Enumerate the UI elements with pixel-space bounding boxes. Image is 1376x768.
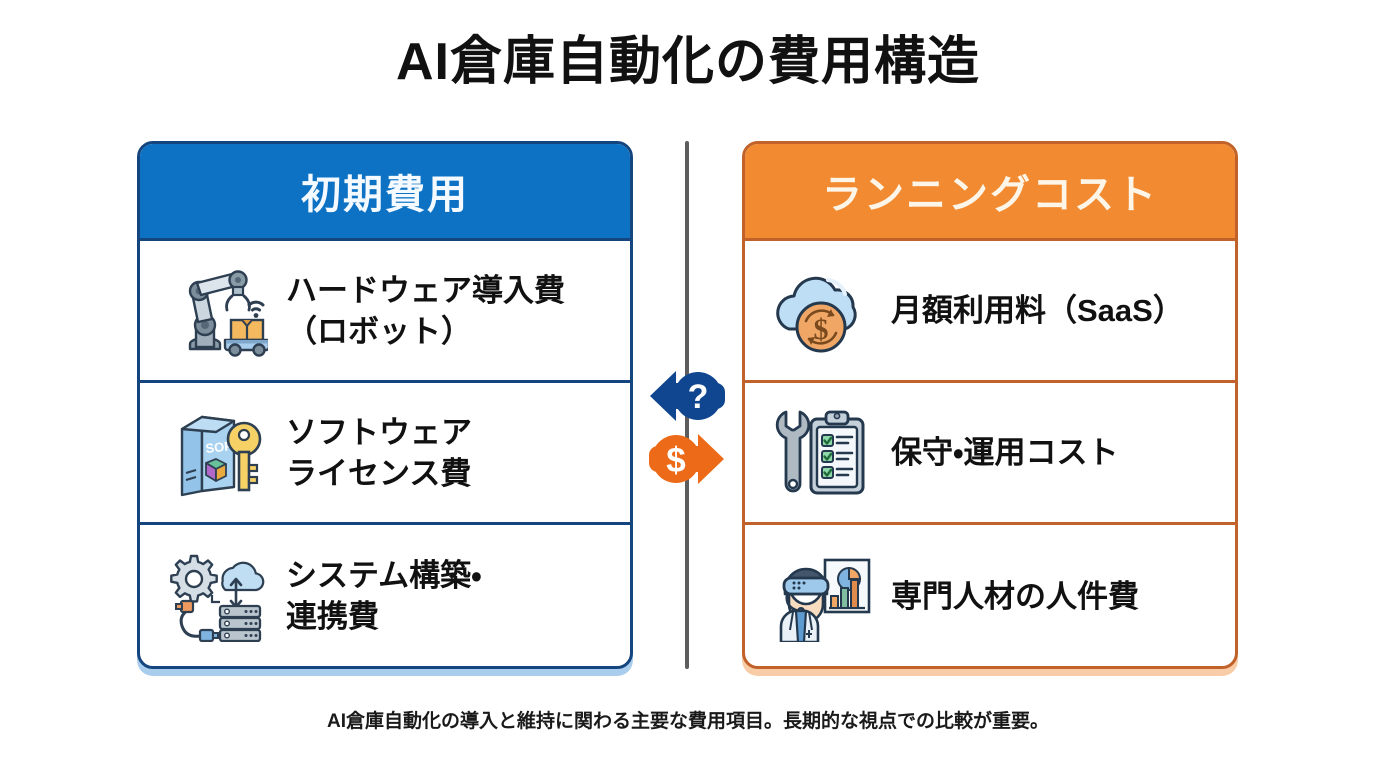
list-item[interactable]: 保守・運用コスト — [745, 383, 1235, 525]
cloud-recurring-coin-icon: $ — [769, 261, 877, 361]
question-arrow-symbol: ? — [688, 378, 709, 416]
wrench-checklist-icon — [769, 403, 877, 503]
dollar-arrow-badge: $ — [648, 428, 726, 490]
expert-analyst-icon — [769, 546, 877, 646]
running-cost-rows: $ 月額利用料（SaaS） — [745, 241, 1235, 667]
list-item[interactable]: ハードウェア導入費 （ロボット） — [140, 241, 630, 383]
initial-cost-header: 初期費用 — [140, 144, 630, 241]
initial-cost-rows: ハードウェア導入費 （ロボット） SOFT — [140, 241, 630, 667]
robot-arm-agv-icon — [164, 261, 272, 361]
footer-caption: AI倉庫自動化の導入と維持に関わる主要な費用項目。長期的な視点での比較が重要。 — [0, 706, 1376, 733]
dollar-arrow-symbol: $ — [666, 441, 685, 480]
list-item-label: システム構築・ 連携費 — [286, 555, 482, 637]
list-item-label: ソフトウェア ライセンス費 — [286, 412, 472, 494]
svg-text:$: $ — [814, 313, 829, 346]
list-item-label: ハードウェア導入費 （ロボット） — [286, 270, 565, 352]
question-arrow-badge: ? — [648, 365, 726, 427]
list-item[interactable]: システム構築・ 連携費 — [140, 525, 630, 667]
list-item[interactable]: SOFT — [140, 383, 630, 525]
list-item-label: 保守・運用コスト — [891, 432, 1119, 473]
running-cost-header: ランニングコスト — [745, 144, 1235, 241]
infographic-page: AI倉庫自動化の費用構造 初期費用 — [0, 0, 1376, 768]
gear-cloud-server-icon — [164, 546, 272, 646]
initial-cost-header-label: 初期費用 — [301, 162, 469, 220]
list-item[interactable]: $ 月額利用料（SaaS） — [745, 241, 1235, 383]
running-cost-header-label: ランニングコスト — [822, 162, 1158, 220]
running-cost-panel: ランニングコスト $ 月額 — [742, 141, 1238, 669]
software-box-key-icon: SOFT — [164, 403, 272, 503]
list-item-label: 月額利用料（SaaS） — [891, 290, 1184, 331]
list-item[interactable]: 専門人材の人件費 — [745, 525, 1235, 667]
list-item-label: 専門人材の人件費 — [891, 576, 1139, 617]
initial-cost-panel: 初期費用 — [137, 141, 633, 669]
page-title: AI倉庫自動化の費用構造 — [0, 30, 1376, 94]
